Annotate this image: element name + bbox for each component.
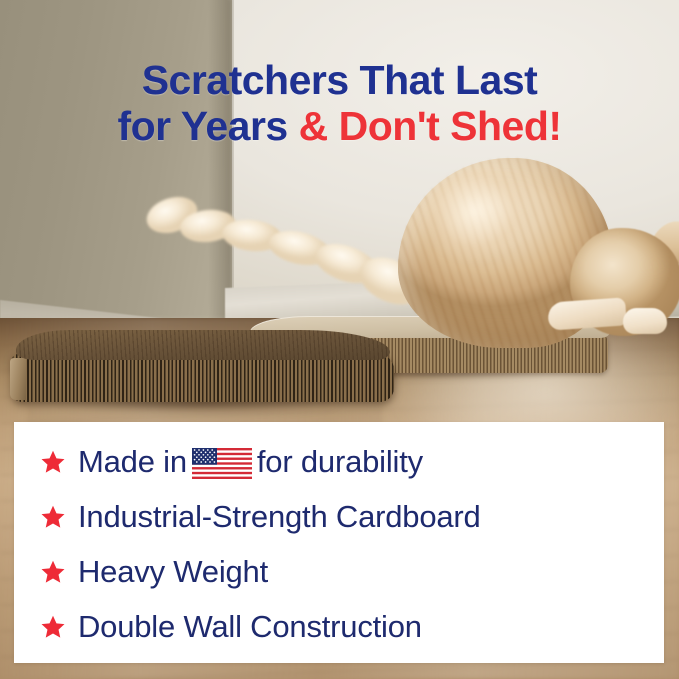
feature-bullet-card: Made in [14, 422, 664, 663]
headline-line-1-text: Scratchers That Last [142, 57, 538, 103]
feature-bullet-list: Made in [40, 434, 654, 654]
front-scratcher-top [16, 330, 390, 360]
headline-line-2: for Years & Don't Shed! [0, 106, 679, 147]
cat-front-paw-right [623, 308, 667, 334]
star-icon [40, 504, 66, 530]
list-item: Heavy Weight [40, 544, 654, 599]
front-scratcher-end-cap [10, 358, 26, 400]
front-cardboard-scratcher [8, 330, 398, 410]
list-item: Double Wall Construction [40, 599, 654, 654]
headline: Scratchers That Last for Years & Don't S… [0, 60, 679, 147]
bullet-1-after-text: for durability [257, 444, 423, 480]
list-item-label: Heavy Weight [78, 554, 268, 590]
front-scratcher-corrugation [12, 354, 394, 402]
star-icon [40, 614, 66, 640]
cat-front-paw-left [547, 297, 627, 330]
bullet-1-before-text: Made in [78, 444, 187, 480]
star-icon [40, 559, 66, 585]
headline-line-2-navy-text: for Years [117, 103, 287, 149]
headline-line-2-red-text: & Don't Shed! [299, 103, 562, 149]
product-marketing-image: Scratchers That Last for Years & Don't S… [0, 0, 679, 679]
us-flag-icon [192, 448, 252, 479]
list-item: Made in [40, 434, 654, 489]
list-item: Industrial-Strength Cardboard [40, 489, 654, 544]
headline-line-1: Scratchers That Last [0, 60, 679, 101]
list-item-label: Double Wall Construction [78, 609, 422, 645]
list-item-label: Made in [78, 444, 423, 480]
cat-haunch-highlight [420, 168, 550, 288]
star-icon [40, 449, 66, 475]
list-item-label: Industrial-Strength Cardboard [78, 499, 481, 535]
cat-tail [146, 190, 432, 306]
